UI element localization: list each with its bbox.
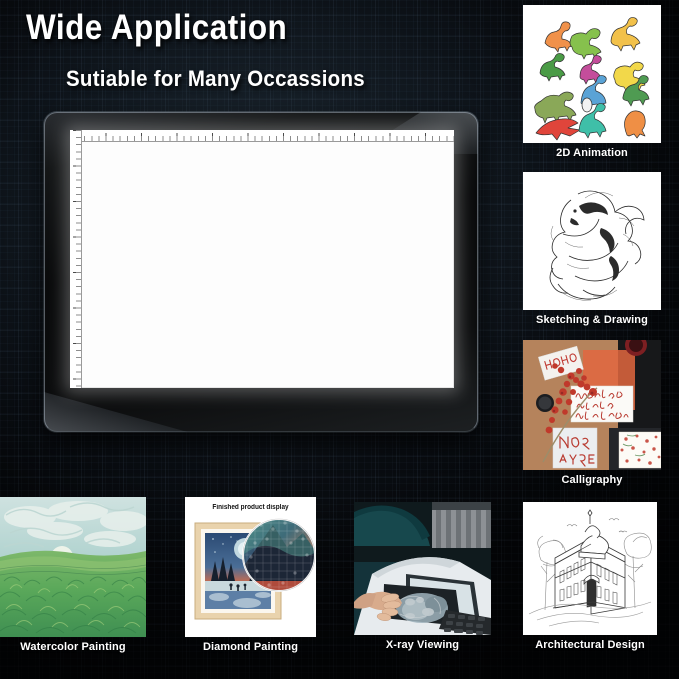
calligraphy-flatlay-illustration [523, 340, 661, 470]
dragon-sketch-illustration [523, 172, 661, 310]
wheatfield-painting-illustration [0, 497, 146, 637]
tile-caption: Architectural Design [523, 639, 657, 651]
tile-caption: X-ray Viewing [354, 639, 491, 651]
page-subtitle: Sutiable for Many Occassions [66, 66, 365, 92]
tile-caption: Calligraphy [523, 474, 661, 486]
led-light-pad [44, 112, 478, 432]
tile-image-2d-animation [523, 5, 661, 143]
tile-caption: Watercolor Painting [0, 641, 146, 653]
tile-image-xray-viewing [354, 502, 491, 635]
tile-diamond-painting[interactable]: Finished product display [185, 497, 316, 653]
tile-watercolor-painting[interactable]: Watercolor Painting [0, 497, 146, 653]
tile-image-watercolor-painting [0, 497, 146, 637]
wide-application-poster: Wide Application Sutiable for Many Occas… [0, 0, 679, 679]
tile-caption: 2D Animation [523, 147, 661, 159]
tile-image-diamond-painting: Finished product display [185, 497, 316, 637]
tile-architectural-design[interactable]: Architectural Design [523, 502, 657, 651]
tile-image-sketching-drawing [523, 172, 661, 310]
tile-image-architectural-design [523, 502, 657, 635]
tile-2d-animation[interactable]: 2D Animation [523, 5, 661, 159]
xray-viewing-photo-illustration [354, 502, 491, 635]
ruler-top [70, 130, 454, 142]
dinosaurs-illustration [523, 5, 661, 143]
diamond-painting-inner-title: Finished product display [190, 504, 311, 511]
tile-image-calligraphy [523, 340, 661, 470]
tile-caption: Diamond Painting [185, 641, 316, 653]
diamond-art-illustration [185, 497, 316, 637]
light-pad-screen [70, 130, 454, 388]
building-sketch-illustration [523, 502, 657, 635]
ruler-left [70, 130, 82, 388]
tile-xray-viewing[interactable]: X-ray Viewing [354, 502, 491, 651]
tile-sketching-drawing[interactable]: Sketching & Drawing [523, 172, 661, 326]
page-title: Wide Application [26, 8, 287, 48]
tile-caption: Sketching & Drawing [523, 314, 661, 326]
tile-calligraphy[interactable]: Calligraphy [523, 340, 661, 486]
